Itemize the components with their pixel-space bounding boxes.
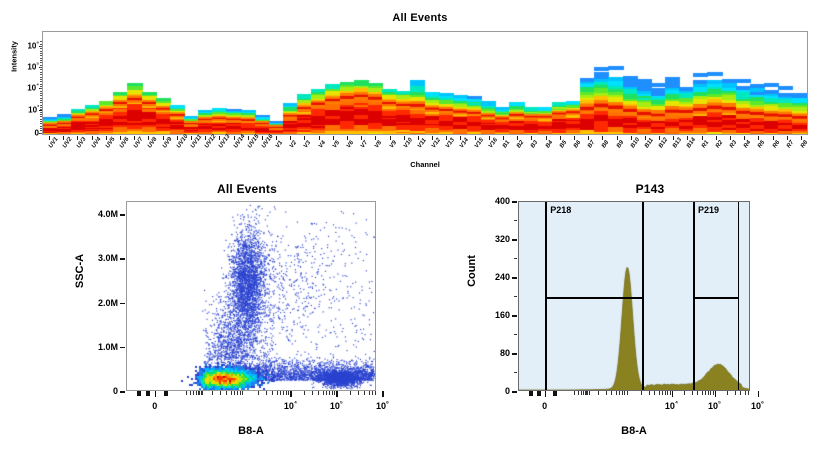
histogram-x-minor-tick xyxy=(649,391,650,395)
spectrum-y-axis-label: Intensity xyxy=(10,27,19,87)
scatter-x-tick-label: 10⁶ xyxy=(376,401,389,411)
spectrum-x-tick xyxy=(517,136,518,140)
spectrum-y-minor-tick xyxy=(40,126,42,127)
spectrum-x-tick-label: R6 xyxy=(772,140,781,150)
scatter-x-minor-tick xyxy=(196,391,197,395)
scatter-x-axis-label: B8-A xyxy=(126,425,376,437)
scatter-x-minor-tick xyxy=(266,391,267,395)
spectrum-x-tick xyxy=(49,136,50,140)
scatter-x-minor-tick xyxy=(237,391,238,395)
spectrum-x-tick xyxy=(631,136,632,140)
spectrum-x-tick xyxy=(489,136,490,140)
spectrum-x-tick xyxy=(744,136,745,140)
spectrum-x-tick-label: B5 xyxy=(559,140,568,150)
spectrum-x-tick xyxy=(248,136,249,140)
spectrum-x-tick xyxy=(773,136,774,140)
spectrum-x-tick-label: B4 xyxy=(545,140,554,150)
scatter-y-tick-label: 2.0M xyxy=(52,298,118,308)
scatter-x-minor-tick xyxy=(358,391,359,395)
spectrum-x-tick xyxy=(574,136,575,140)
scatter-x-minor-tick xyxy=(369,391,370,395)
spectrum-y-minor-tick xyxy=(40,69,42,70)
scatter-x-minor-tick xyxy=(288,391,289,395)
spectrum-x-tick xyxy=(673,136,674,140)
spectrum-x-tick-label: UV10 xyxy=(176,134,190,150)
scatter-x-minor-tick xyxy=(364,391,365,395)
histogram-x-minor-tick xyxy=(581,391,582,395)
scatter-x-minor-tick xyxy=(332,391,333,395)
histogram-y-tick xyxy=(512,277,517,279)
scatter-x-minor-tick xyxy=(318,391,319,395)
spectrum-y-minor-tick xyxy=(40,48,42,49)
histogram-x-minor-tick xyxy=(710,391,711,395)
spectrum-y-minor-tick xyxy=(40,88,42,89)
spectrum-x-tick xyxy=(560,136,561,140)
histogram-x-tick-label: 10⁵ xyxy=(708,401,721,411)
spectrum-x-tick-label: UV14 xyxy=(233,134,247,150)
spectrum-y-minor-tick xyxy=(40,114,42,115)
histogram-plot-area[interactable]: P218P219 xyxy=(518,201,750,391)
scatter-x-minor-tick xyxy=(329,391,330,395)
histogram-y-tick-label: 80 xyxy=(440,348,510,358)
histogram-x-minor-tick xyxy=(574,391,575,395)
scatter-title: All Events xyxy=(112,182,382,196)
scatter-y-tick-label: 4.0M xyxy=(52,209,118,219)
spectrum-y-tick-label: 10⁵ xyxy=(27,62,39,71)
spectrum-x-tick xyxy=(92,136,93,140)
gate-handle-bar[interactable] xyxy=(693,297,738,299)
spectrum-x-tick xyxy=(659,136,660,140)
spectrum-heatmap-panel: All Events 10⁶10⁵10⁴10³0 Intensity UV1UV… xyxy=(0,0,826,175)
histogram-y-tick xyxy=(512,353,517,355)
scatter-x-tick-label: 10⁵ xyxy=(330,401,343,411)
spectrum-x-axis: UV1UV2UV3UV4UV5UV6UV7UV8UV9UV10UV11UV12U… xyxy=(42,136,808,162)
spectrum-x-tick xyxy=(418,136,419,140)
histogram-x-axis-label: B8-A xyxy=(518,425,750,437)
histogram-x-minor-tick xyxy=(619,391,620,395)
histogram-x-tick xyxy=(715,391,717,397)
scatter-x-minor-tick xyxy=(280,391,281,395)
histogram-curve-canvas xyxy=(519,202,749,390)
scatter-x-minor-tick xyxy=(372,391,373,395)
histogram-x-minor-tick xyxy=(670,391,671,395)
spectrum-x-tick xyxy=(432,136,433,140)
histogram-x-minor-tick xyxy=(654,391,655,395)
spectrum-x-tick-label: UV12 xyxy=(204,134,218,150)
spectrum-y-minor-tick xyxy=(40,74,42,75)
scatter-x-minor-tick xyxy=(242,391,243,395)
spectrum-x-tick xyxy=(191,136,192,140)
spectrum-x-tick xyxy=(446,136,447,140)
histogram-x-minor-tick xyxy=(578,391,579,395)
histogram-y-tick-label: 240 xyxy=(440,272,510,282)
histogram-x-minor-tick xyxy=(684,391,685,395)
histogram-x-minor-tick xyxy=(598,391,599,395)
scatter-x-minor-tick xyxy=(202,391,203,395)
histogram-x-minor-tick xyxy=(708,391,709,395)
spectrum-x-tick-label: V5 xyxy=(332,140,341,149)
spectrum-x-axis-label: Channel xyxy=(42,160,808,169)
scatter-x-minor-tick xyxy=(350,391,351,395)
spectrum-y-minor-tick xyxy=(40,112,42,113)
histogram-x-tick-label: 0 xyxy=(542,401,547,411)
histogram-x-tick xyxy=(672,391,674,397)
scatter-y-tick-label: 3.0M xyxy=(52,253,118,263)
spectrum-y-minor-tick xyxy=(40,58,42,59)
spectrum-x-tick xyxy=(390,136,391,140)
spectrum-x-tick xyxy=(134,136,135,140)
spectrum-x-tick xyxy=(219,136,220,140)
scatter-y-tick xyxy=(120,391,125,393)
spectrum-x-tick xyxy=(645,136,646,140)
spectrum-x-tick xyxy=(617,136,618,140)
spectrum-x-tick-label: B7 xyxy=(587,140,596,150)
spectrum-x-tick-label: V4 xyxy=(318,140,327,149)
scatter-x-minor-tick xyxy=(304,391,305,395)
spectrum-y-minor-tick xyxy=(40,46,42,47)
spectrum-x-tick-label: V2 xyxy=(289,140,298,149)
spectrum-title: All Events xyxy=(40,12,800,24)
histogram-y-tick-label: 400 xyxy=(440,196,510,206)
spectrum-x-tick xyxy=(404,136,405,140)
spectrum-x-tick xyxy=(758,136,759,140)
spectrum-x-tick-label: UV16 xyxy=(261,134,275,150)
scatter-y-tick-label: 1.0M xyxy=(52,342,118,352)
spectrum-x-tick xyxy=(77,136,78,140)
spectrum-y-minor-tick xyxy=(40,81,42,82)
scatter-x-tick-label: 10⁴ xyxy=(284,401,297,411)
histogram-x-tick-label: 10⁴ xyxy=(665,401,678,411)
spectrum-x-tick-label: V7 xyxy=(360,140,369,149)
spectrum-x-tick xyxy=(588,136,589,140)
spectrum-x-tick-label: R1 xyxy=(701,140,710,150)
spectrum-y-minor-tick xyxy=(40,109,42,110)
spectrum-y-minor-tick xyxy=(40,53,42,54)
histogram-y-tick xyxy=(512,201,517,203)
histogram-x-minor-tick xyxy=(659,391,660,395)
spectrum-x-tick xyxy=(177,136,178,140)
spectrum-heatmap-canvas xyxy=(43,32,807,134)
spectrum-x-tick-label: R2 xyxy=(715,140,724,150)
spectrum-x-tick xyxy=(304,136,305,140)
scatter-x-minor-tick xyxy=(258,391,259,395)
spectrum-x-tick-label: B6 xyxy=(573,140,582,150)
spectrum-x-tick-label: UV13 xyxy=(218,134,232,150)
scatter-x-minor-tick xyxy=(212,391,213,395)
spectrum-x-tick xyxy=(347,136,348,140)
histogram-x-zero-tick xyxy=(529,391,533,396)
histogram-x-minor-tick xyxy=(713,391,714,395)
histogram-x-minor-tick xyxy=(616,391,617,395)
spectrum-x-tick xyxy=(120,136,121,140)
spectrum-x-tick xyxy=(205,136,206,140)
histogram-y-minor-tick xyxy=(514,258,517,259)
scatter-x-minor-tick xyxy=(323,391,324,395)
spectrum-y-minor-tick xyxy=(40,84,42,85)
histogram-x-minor-tick xyxy=(589,391,590,395)
histogram-y-minor-tick xyxy=(514,220,517,221)
scatter-x-minor-tick xyxy=(375,391,376,395)
histogram-x-minor-tick xyxy=(611,391,612,395)
spectrum-y-minor-tick xyxy=(40,55,42,56)
spectrum-x-tick xyxy=(262,136,263,140)
spectrum-x-tick-label: R4 xyxy=(743,140,752,150)
scatter-x-minor-tick xyxy=(220,391,221,395)
spectrum-y-minor-tick xyxy=(40,72,42,73)
histogram-x-minor-tick xyxy=(665,391,666,395)
histogram-x-zero-tick xyxy=(537,391,541,396)
spectrum-y-minor-tick xyxy=(40,44,42,45)
histogram-x-minor-tick xyxy=(641,391,642,395)
scatter-y-tick-label: 0 xyxy=(52,386,118,396)
scatter-x-minor-tick xyxy=(231,391,232,395)
scatter-x-minor-tick xyxy=(312,391,313,395)
gate-boundary-line[interactable] xyxy=(738,202,740,391)
spectrum-y-minor-tick xyxy=(40,51,42,52)
spectrum-y-minor-tick xyxy=(40,67,42,68)
scatter-x-minor-tick xyxy=(186,391,187,395)
histogram-x-minor-tick xyxy=(622,391,623,395)
spectrum-x-tick xyxy=(460,136,461,140)
spectrum-y-minor-tick xyxy=(40,91,42,92)
spectrum-x-tick xyxy=(375,136,376,140)
spectrum-x-tick-label: B8 xyxy=(601,140,610,150)
histogram-x-minor-tick xyxy=(740,391,741,395)
histogram-x-minor-tick xyxy=(705,391,706,395)
histogram-y-tick-label: 0 xyxy=(440,386,510,396)
scatter-x-minor-tick xyxy=(234,391,235,395)
spectrum-x-tick-label: B2 xyxy=(516,140,525,150)
gate-boundary-line[interactable] xyxy=(642,202,644,391)
scatter-x-minor-tick xyxy=(240,391,241,395)
spectrum-x-tick-label: R5 xyxy=(757,140,766,150)
scatter-x-zero-tick xyxy=(164,391,168,396)
scatter-y-tick xyxy=(120,347,125,349)
spectrum-x-tick xyxy=(801,136,802,140)
histogram-x-minor-tick xyxy=(692,391,693,395)
spectrum-y-minor-tick xyxy=(40,79,42,80)
scatter-x-minor-tick xyxy=(272,391,273,395)
scatter-y-tick xyxy=(120,258,125,260)
spectrum-y-tick-label: 10³ xyxy=(28,105,39,114)
scatter-x-minor-tick xyxy=(226,391,227,395)
histogram-x-tick-label: 10⁶ xyxy=(751,401,764,411)
histogram-y-minor-tick xyxy=(514,372,517,373)
histogram-y-tick xyxy=(512,391,517,393)
spectrum-y-minor-tick xyxy=(40,128,42,129)
scatter-x-zero-tick xyxy=(146,391,150,396)
spectrum-plot-area[interactable] xyxy=(42,31,808,135)
spectrum-x-tick xyxy=(787,136,788,140)
spectrum-x-tick xyxy=(475,136,476,140)
scatter-x-minor-tick xyxy=(190,391,191,395)
histogram-x-tick xyxy=(545,391,547,397)
histogram-y-tick xyxy=(512,315,517,317)
histogram-y-tick-label: 320 xyxy=(440,234,510,244)
spectrum-x-tick xyxy=(361,136,362,140)
scatter-x-tick xyxy=(382,391,384,397)
spectrum-y-minor-tick xyxy=(40,105,42,106)
spectrum-y-minor-tick xyxy=(40,121,42,122)
spectrum-x-tick xyxy=(716,136,717,140)
spectrum-x-tick-label: B1 xyxy=(502,140,511,150)
spectrum-y-minor-tick xyxy=(40,119,42,120)
spectrum-y-minor-tick xyxy=(40,41,42,42)
scatter-x-tick xyxy=(336,391,338,397)
spectrum-y-minor-tick xyxy=(40,100,42,101)
scatter-x-minor-tick xyxy=(277,391,278,395)
gate-label-p219[interactable]: P219 xyxy=(698,205,719,215)
spectrum-x-tick-label: V1 xyxy=(275,140,284,149)
spectrum-y-minor-tick xyxy=(40,65,42,66)
spectrum-y-minor-tick xyxy=(40,98,42,99)
spectrum-y-minor-tick xyxy=(40,107,42,108)
scatter-y-tick xyxy=(120,214,125,216)
spectrum-x-tick-label: R3 xyxy=(729,140,738,150)
histogram-y-minor-tick xyxy=(514,334,517,335)
spectrum-y-minor-tick xyxy=(40,77,42,78)
spectrum-x-tick xyxy=(319,136,320,140)
histogram-x-zero-tick xyxy=(553,391,557,396)
spectrum-x-tick xyxy=(503,136,504,140)
spectrum-y-minor-tick xyxy=(40,133,42,134)
gate-handle-bar[interactable] xyxy=(545,297,642,299)
spectrum-y-minor-tick xyxy=(40,95,42,96)
spectrum-y-minor-tick xyxy=(40,130,42,131)
spectrum-y-minor-tick xyxy=(40,93,42,94)
scatter-x-minor-tick xyxy=(286,391,287,395)
histogram-x-minor-tick xyxy=(697,391,698,395)
spectrum-x-tick xyxy=(546,136,547,140)
spectrum-x-tick xyxy=(106,136,107,140)
spectrum-y-axis: 10⁶10⁵10⁴10³0 xyxy=(0,28,42,138)
spectrum-x-tick xyxy=(333,136,334,140)
scatter-x-minor-tick xyxy=(193,391,194,395)
spectrum-x-tick-label: V3 xyxy=(303,140,312,149)
spectrum-x-tick xyxy=(730,136,731,140)
histogram-x-minor-tick xyxy=(745,391,746,395)
gate-label-p218[interactable]: P218 xyxy=(550,205,571,215)
histogram-x-tick xyxy=(758,391,760,397)
spectrum-y-minor-tick xyxy=(40,116,42,117)
spectrum-x-tick-label: R8 xyxy=(800,140,809,150)
scatter-x-tick-label: 0 xyxy=(152,401,157,411)
spectrum-x-tick-label: B9 xyxy=(616,140,625,150)
spectrum-x-tick xyxy=(702,136,703,140)
scatter-points-canvas xyxy=(127,202,375,390)
spectrum-y-minor-tick xyxy=(40,102,42,103)
spectrum-x-tick xyxy=(63,136,64,140)
spectrum-x-tick-label: V9 xyxy=(389,140,398,149)
scatter-x-tick xyxy=(155,391,157,397)
spectrum-x-tick xyxy=(163,136,164,140)
scatter-x-minor-tick xyxy=(283,391,284,395)
spectrum-x-tick xyxy=(602,136,603,140)
spectrum-x-tick xyxy=(148,136,149,140)
histogram-x-minor-tick xyxy=(624,391,625,395)
histogram-x-minor-tick xyxy=(702,391,703,395)
histogram-y-tick xyxy=(512,239,517,241)
histogram-x-minor-tick xyxy=(627,391,628,395)
spectrum-x-tick-label: R7 xyxy=(786,140,795,150)
spectrum-y-minor-tick xyxy=(40,60,42,61)
spectrum-x-tick-label: V8 xyxy=(374,140,383,149)
spectrum-x-tick xyxy=(290,136,291,140)
histogram-x-minor-tick xyxy=(606,391,607,395)
histogram-y-minor-tick xyxy=(514,296,517,297)
spectrum-x-tick xyxy=(276,136,277,140)
spectrum-y-minor-tick xyxy=(40,62,42,63)
histogram-title: P143 xyxy=(500,182,800,196)
histogram-x-minor-tick xyxy=(727,391,728,395)
scatter-y-tick xyxy=(120,303,125,305)
histogram-y-tick-label: 160 xyxy=(440,310,510,320)
scatter-plot-area[interactable] xyxy=(126,201,376,391)
spectrum-x-tick-label: UV15 xyxy=(247,134,261,150)
scatter-x-tick xyxy=(290,391,292,397)
spectrum-x-tick-label: V6 xyxy=(346,140,355,149)
spectrum-x-tick xyxy=(234,136,235,140)
histogram-x-minor-tick xyxy=(667,391,668,395)
histogram-x-minor-tick xyxy=(748,391,749,395)
spectrum-x-tick-label: B3 xyxy=(530,140,539,150)
scatter-plot-panel: All Events SSC-A B8-A 4.0M3.0M2.0M1.0M00… xyxy=(52,180,400,451)
scatter-x-minor-tick xyxy=(326,391,327,395)
spectrum-x-tick xyxy=(687,136,688,140)
spectrum-y-tick-label: 10⁶ xyxy=(27,41,39,50)
histogram-x-minor-tick xyxy=(662,391,663,395)
histogram-x-minor-tick xyxy=(735,391,736,395)
spectrum-x-tick xyxy=(531,136,532,140)
spectrum-y-minor-tick xyxy=(40,86,42,87)
spectrum-y-tick-label: 10⁴ xyxy=(27,84,39,93)
histogram-panel: P143 P218P219 Count B8-A 400320240160800… xyxy=(440,180,826,451)
spectrum-y-minor-tick xyxy=(40,123,42,124)
scatter-x-minor-tick xyxy=(334,391,335,395)
scatter-x-zero-tick xyxy=(137,391,141,396)
